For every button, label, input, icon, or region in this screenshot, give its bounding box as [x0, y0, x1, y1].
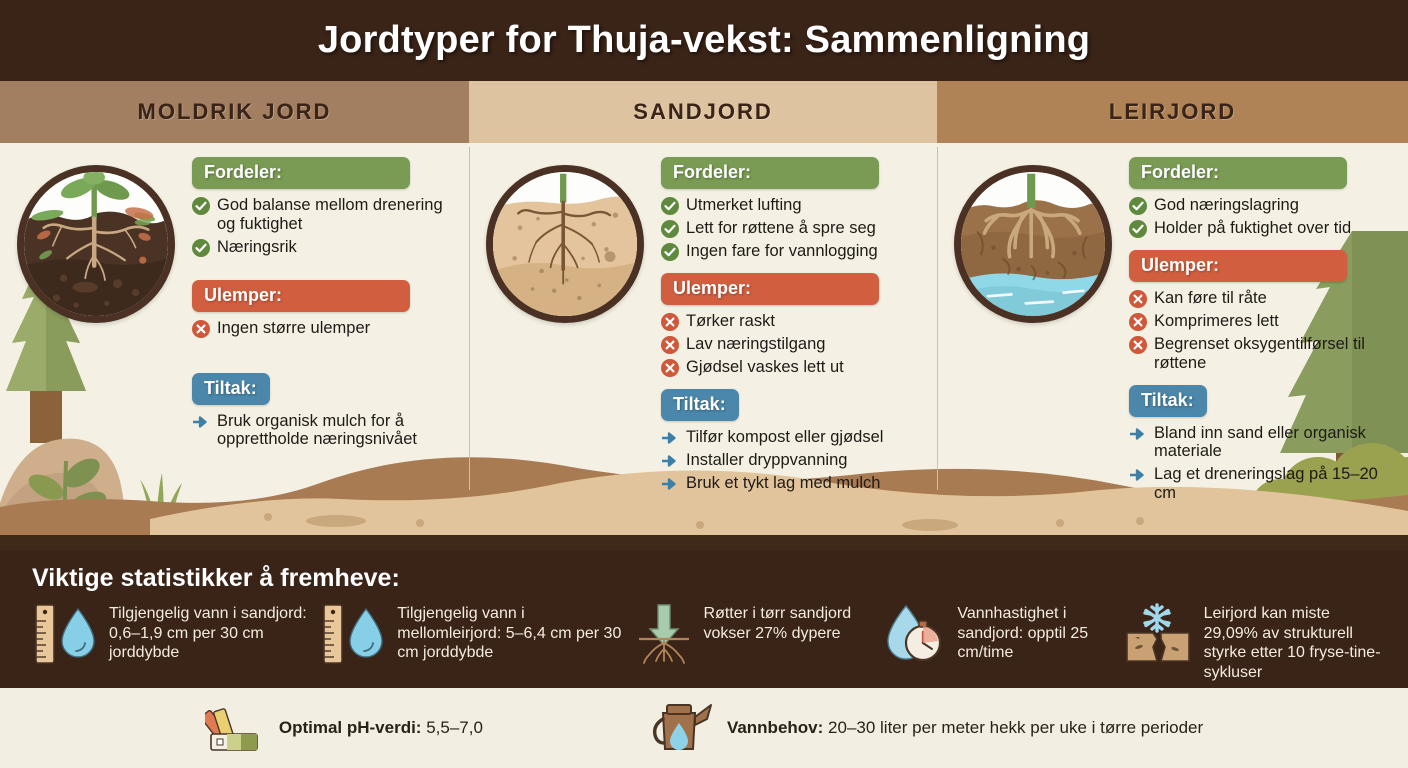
footer-item-text: Vannbehov: 20–30 liter per meter hekk pe… — [727, 717, 1203, 738]
list-item-label: Lav næringstilgang — [686, 334, 825, 354]
list-item-label: God balanse mellom drenering og fuktighe… — [217, 195, 455, 234]
cross-icon — [1129, 290, 1147, 308]
footer-item-label: Optimal pH-verdi: — [279, 718, 422, 737]
title-bar: Jordtyper for Thuja-vekst: Sammenligning — [0, 0, 1408, 81]
list-item: Komprimeres lett — [1129, 311, 1394, 331]
list-item: Bruk et tykt lag med mulch — [661, 473, 923, 493]
footer-item-ph: Optimal pH-verdi: 5,5–7,0 — [205, 698, 483, 759]
arrow-down-roots-icon — [633, 603, 695, 670]
check-icon — [661, 243, 679, 261]
tips-list: Tilfør kompost eller gjødsel Installer d… — [661, 427, 923, 493]
cross-icon — [661, 313, 679, 331]
arrow-right-icon — [192, 413, 210, 431]
key-statistics-bar: Viktige statistikker å fremheve: — [0, 550, 1408, 688]
column-header-label: LEIRJORD — [1109, 99, 1236, 125]
infographic-page: Jordtyper for Thuja-vekst: Sammenligning… — [0, 0, 1408, 768]
list-item-label: Ingen fare for vannlogging — [686, 241, 878, 261]
list-item: Næringsrik — [192, 237, 455, 257]
waterdrop-stopwatch-icon — [882, 603, 948, 670]
list-item: Lav næringstilgang — [661, 334, 923, 354]
tips-list: Bland inn sand eller organisk materiale … — [1129, 423, 1394, 503]
check-icon — [661, 197, 679, 215]
footer-bar: Optimal pH-verdi: 5,5–7,0 Vannbehov: 20–… — [0, 688, 1408, 768]
cross-icon — [1129, 313, 1147, 331]
stat-text: Tilgjengelig vann i mellomleirjord: 5–6,… — [397, 603, 632, 663]
column-header-label: MOLDRIK JORD — [138, 99, 332, 125]
list-item: Tilfør kompost eller gjødsel — [661, 427, 923, 447]
list-item-label: Lag et dreneringslag på 15–20 cm — [1154, 464, 1394, 503]
list-item: Begrenset oksygentilførsel til røttene — [1129, 334, 1394, 373]
list-item: Bland inn sand eller organisk materiale — [1129, 423, 1394, 462]
main-comparison-panel: Fordeler: God balanse mellom drenering o… — [0, 143, 1408, 550]
ph-strips-icon — [205, 698, 267, 759]
cross-icon — [1129, 336, 1147, 354]
footer-item-water: Vannbehov: 20–30 liter per meter hekk pe… — [651, 697, 1203, 760]
check-icon — [1129, 220, 1147, 238]
column-text-leirjord: Fordeler: God næringslagring Holder på f… — [1129, 143, 1408, 550]
stat-item: Leirjord kan miste 29,09% av strukturell… — [1123, 603, 1382, 682]
stat-item: Tilgjengelig vann i sandjord: 0,6–1,9 cm… — [32, 603, 320, 670]
list-item-label: Tilfør kompost eller gjødsel — [686, 427, 883, 447]
statistics-title: Viktige statistikker å fremheve: — [32, 564, 1382, 593]
pros-list: God næringslagring Holder på fuktighet o… — [1129, 195, 1394, 238]
list-item-label: Bruk et tykt lag med mulch — [686, 473, 880, 493]
sandy-soil-circle-icon — [486, 165, 644, 323]
tips-badge: Tiltak: — [661, 389, 739, 421]
list-item: Lag et dreneringslag på 15–20 cm — [1129, 464, 1394, 503]
humus-soil-circle-icon — [17, 165, 175, 323]
pros-badge: Fordeler: — [192, 157, 410, 189]
list-item: Installer dryppvanning — [661, 450, 923, 470]
check-icon — [192, 197, 210, 215]
list-item-label: God næringslagring — [1154, 195, 1299, 215]
tips-badge: Tiltak: — [1129, 385, 1207, 417]
list-item: Ingen fare for vannlogging — [661, 241, 923, 261]
statistics-row: Tilgjengelig vann i sandjord: 0,6–1,9 cm… — [32, 603, 1382, 682]
arrow-right-icon — [661, 429, 679, 447]
column-header-moldrik-jord: MOLDRIK JORD — [0, 81, 469, 143]
list-item-label: Installer dryppvanning — [686, 450, 847, 470]
cons-badge: Ulemper: — [661, 273, 879, 305]
pros-list: Utmerket lufting Lett for røttene å spre… — [661, 195, 923, 261]
list-item: God næringslagring — [1129, 195, 1394, 215]
list-item-label: Komprimeres lett — [1154, 311, 1279, 331]
cons-list: Kan føre til råte Komprimeres lett Begre… — [1129, 288, 1394, 373]
cons-list: Ingen større ulemper — [192, 318, 455, 338]
check-icon — [192, 239, 210, 257]
list-item-label: Holder på fuktighet over tid — [1154, 218, 1351, 238]
pros-badge: Fordeler: — [661, 157, 879, 189]
list-item: Ingen større ulemper — [192, 318, 455, 338]
ruler-waterdrop-icon — [320, 603, 388, 670]
stat-text: Vannhastighet i sandjord: opptil 25 cm/t… — [957, 603, 1122, 663]
column-text-sandjord: Fordeler: Utmerket lufting Lett for røtt… — [661, 143, 937, 550]
pros-list: God balanse mellom drenering og fuktighe… — [192, 195, 455, 257]
stat-text: Leirjord kan miste 29,09% av strukturell… — [1204, 603, 1382, 682]
list-item: Lett for røttene å spre seg — [661, 218, 923, 238]
tips-badge: Tiltak: — [192, 373, 270, 405]
footer-item-text: Optimal pH-verdi: 5,5–7,0 — [279, 717, 483, 738]
list-item: Bruk organisk mulch for å opprettholde n… — [192, 411, 455, 450]
list-item: Kan føre til råte — [1129, 288, 1394, 308]
column-header-label: SANDJORD — [633, 99, 772, 125]
cons-badge: Ulemper: — [1129, 250, 1347, 282]
footer-item-value: 5,5–7,0 — [426, 718, 483, 737]
page-title: Jordtyper for Thuja-vekst: Sammenligning — [318, 19, 1090, 62]
list-item-label: Næringsrik — [217, 237, 297, 257]
list-item: Holder på fuktighet over tid — [1129, 218, 1394, 238]
arrow-right-icon — [661, 475, 679, 493]
list-item: Tørker raskt — [661, 311, 923, 331]
list-item-label: Kan føre til råte — [1154, 288, 1267, 308]
illustration-wrap-leirjord — [937, 143, 1129, 550]
check-icon — [1129, 197, 1147, 215]
cross-icon — [192, 320, 210, 338]
clay-soil-circle-icon — [954, 165, 1112, 323]
stat-text: Tilgjengelig vann i sandjord: 0,6–1,9 cm… — [109, 603, 320, 663]
cross-icon — [661, 359, 679, 377]
stat-item: Vannhastighet i sandjord: opptil 25 cm/t… — [882, 603, 1122, 670]
illustration-wrap-sandjord — [469, 143, 661, 550]
column-sandjord: Fordeler: Utmerket lufting Lett for røtt… — [469, 143, 937, 550]
illustration-wrap-moldrik-jord — [0, 143, 192, 550]
column-leirjord: Fordeler: God næringslagring Holder på f… — [937, 143, 1408, 550]
footer-item-value: 20–30 liter per meter hekk per uke i tør… — [828, 718, 1203, 737]
list-item: God balanse mellom drenering og fuktighe… — [192, 195, 455, 234]
pros-badge: Fordeler: — [1129, 157, 1347, 189]
arrow-right-icon — [661, 452, 679, 470]
column-header-sandjord: SANDJORD — [469, 81, 937, 143]
list-item-label: Ingen større ulemper — [217, 318, 370, 338]
list-item-label: Tørker raskt — [686, 311, 775, 331]
list-item: Gjødsel vaskes lett ut — [661, 357, 923, 377]
cross-icon — [661, 336, 679, 354]
ruler-waterdrop-icon — [32, 603, 100, 670]
list-item-label: Lett for røttene å spre seg — [686, 218, 876, 238]
tips-list: Bruk organisk mulch for å opprettholde n… — [192, 411, 455, 450]
column-moldrik-jord: Fordeler: God balanse mellom drenering o… — [0, 143, 469, 550]
cons-list: Tørker raskt Lav næringstilgang Gjødsel … — [661, 311, 923, 377]
column-header-leirjord: LEIRJORD — [937, 81, 1408, 143]
watering-can-icon — [651, 697, 715, 760]
list-item: Utmerket lufting — [661, 195, 923, 215]
column-text-moldrik-jord: Fordeler: God balanse mellom drenering o… — [192, 143, 469, 550]
list-item-label: Bruk organisk mulch for å opprettholde n… — [217, 411, 455, 450]
cons-badge: Ulemper: — [192, 280, 410, 312]
arrow-right-icon — [1129, 425, 1147, 443]
snowflake-cracked-soil-icon — [1123, 603, 1195, 670]
footer-item-label: Vannbehov: — [727, 718, 823, 737]
list-item-label: Begrenset oksygentilførsel til røttene — [1154, 334, 1394, 373]
check-icon — [661, 220, 679, 238]
stat-item: Tilgjengelig vann i mellomleirjord: 5–6,… — [320, 603, 632, 670]
list-item-label: Gjødsel vaskes lett ut — [686, 357, 844, 377]
arrow-right-icon — [1129, 466, 1147, 484]
column-header-bands: MOLDRIK JORD SANDJORD LEIRJORD — [0, 81, 1408, 143]
stat-item: Røtter i tørr sandjord vokser 27% dypere — [633, 603, 883, 670]
stat-text: Røtter i tørr sandjord vokser 27% dypere — [704, 603, 883, 643]
list-item-label: Bland inn sand eller organisk materiale — [1154, 423, 1394, 462]
list-item-label: Utmerket lufting — [686, 195, 802, 215]
